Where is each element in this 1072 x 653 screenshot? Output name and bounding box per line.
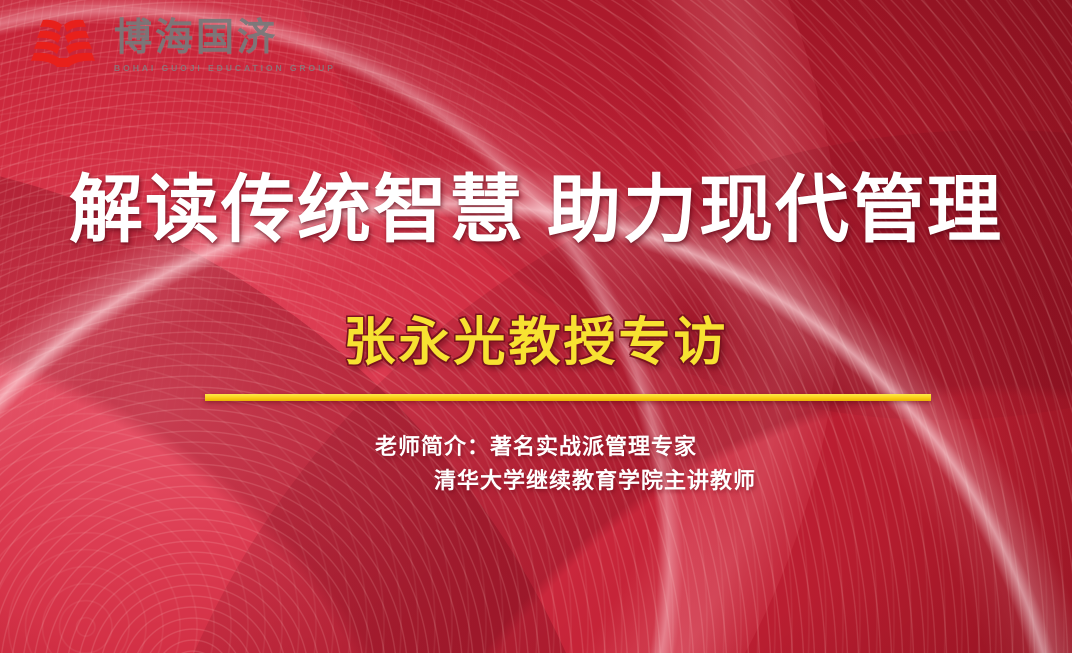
instructor-bio-text-2: 清华大学继续教育学院主讲教师 [434, 468, 756, 493]
brand-name-en: BOHAI GUOJI EDUCATION GROUP [114, 64, 336, 73]
brand-logo: 博海国济 BOHAI GUOJI EDUCATION GROUP [28, 16, 336, 76]
open-book-logo-mark [28, 16, 102, 76]
instructor-bio-line-1: 老师简介：著名实战派管理专家 [0, 430, 1072, 464]
page-subtitle: 张永光教授专访 [0, 300, 1072, 375]
page-title: 解读传统智慧助力现代管理 [0, 150, 1072, 257]
instructor-bio-text-1: 著名实战派管理专家 [490, 434, 697, 459]
instructor-bio-label: 老师简介： [375, 434, 490, 459]
page-title-part2: 助力现代管理 [547, 168, 1003, 251]
poster-canvas: 博海国济 BOHAI GUOJI EDUCATION GROUP 解读传统智慧助… [0, 0, 1072, 653]
instructor-bio: 老师简介：著名实战派管理专家 清华大学继续教育学院主讲教师 [0, 430, 1072, 498]
brand-logo-text: 博海国济 BOHAI GUOJI EDUCATION GROUP [114, 19, 336, 73]
divider-line [205, 394, 931, 401]
instructor-bio-line-2: 清华大学继续教育学院主讲教师 [0, 464, 1072, 498]
page-title-part1: 解读传统智慧 [69, 168, 525, 251]
brand-name-cn: 博海国济 [114, 19, 336, 57]
